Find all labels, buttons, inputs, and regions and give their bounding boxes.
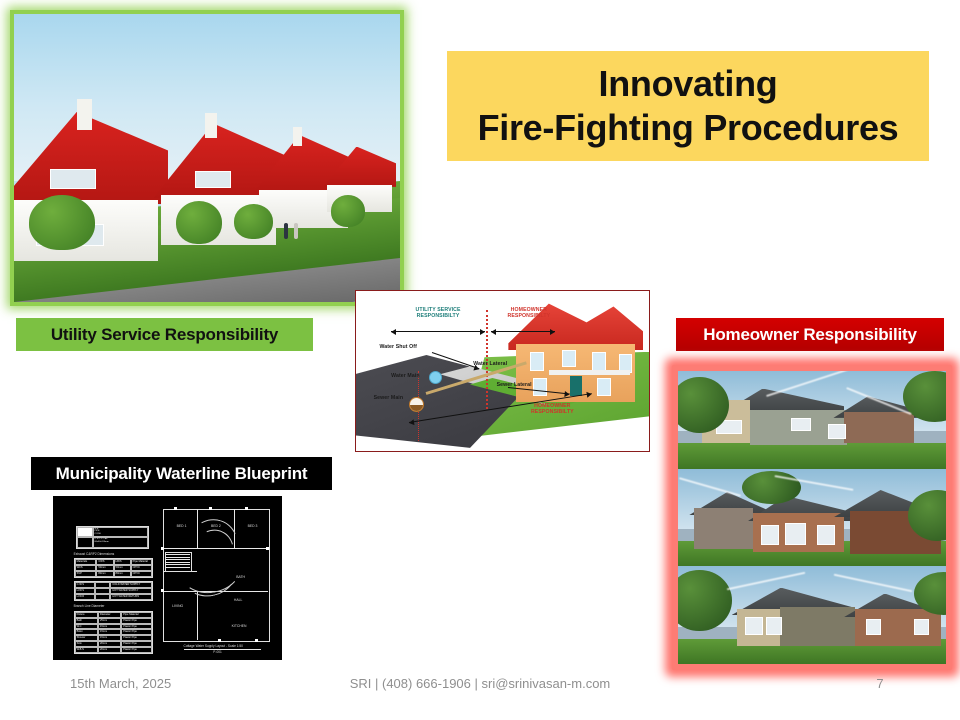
- title-line-1: Innovating: [599, 62, 778, 106]
- window: [530, 352, 544, 371]
- responsibility-diagram: UTILITY SERVICE RESPONSIBILTY HOMEOWNER …: [355, 290, 650, 452]
- blueprint-table-exhaust: Materials CWS HWS Pipe Material WCS 50mm…: [74, 558, 154, 578]
- street-photo: [13, 13, 401, 303]
- td: CPVC: [131, 571, 153, 577]
- room-label: BATH: [236, 575, 245, 579]
- fixture-node: [218, 639, 221, 642]
- front-door: [570, 376, 582, 396]
- title-line-2: Fire-Fighting Procedures: [478, 106, 899, 150]
- window: [785, 523, 806, 545]
- diagram-label-homeowner-zone: HOMEOWNER RESPONSIBILTY: [491, 307, 567, 320]
- diagram-label-sewer-lateral: Sewer Lateral: [497, 382, 532, 388]
- window: [766, 617, 781, 635]
- chimney: [293, 127, 302, 147]
- chimney: [77, 99, 92, 130]
- house-1: [13, 112, 168, 204]
- diagram-label-homeowner-lower: HOMEOWNER RESPONSIBILTY: [514, 403, 590, 416]
- tree: [29, 195, 95, 250]
- blueprint-sheet-number: P-001: [213, 650, 222, 654]
- slide-canvas: Innovating Fire-Fighting Procedures: [0, 0, 960, 720]
- room-label: HALL: [234, 598, 242, 602]
- window: [914, 619, 929, 635]
- key-line: [95, 594, 111, 600]
- pedestrian: [284, 223, 288, 239]
- td: HOT WATER RETURN: [110, 594, 152, 600]
- window: [817, 525, 835, 545]
- diagram-label-water-shut-off: Water Shut Off: [379, 344, 417, 350]
- house-collage: [672, 365, 952, 670]
- td: W.B.S: [75, 647, 98, 653]
- legend-label-cell: D.S.C.P. CAP 60x60x115mm: [93, 537, 148, 548]
- window: [597, 378, 611, 396]
- td: 80mm: [96, 571, 113, 577]
- window: [562, 350, 576, 367]
- room-label: BED 3: [248, 524, 258, 528]
- legend-symbol-cell: [77, 537, 93, 548]
- window: [791, 418, 812, 431]
- room-label: LIVING: [172, 604, 183, 608]
- house-body: [844, 412, 914, 443]
- collage-cell-1: [678, 371, 946, 469]
- window: [761, 525, 779, 545]
- house-body: [780, 607, 855, 646]
- tree: [234, 204, 273, 239]
- fixture-node: [209, 507, 212, 510]
- fixture-node: [255, 639, 258, 642]
- lawn: [678, 443, 946, 468]
- house-body: [694, 508, 753, 549]
- legend-label-cell: N.B. PIPE CODE: [93, 527, 148, 538]
- fixture-node: [266, 547, 269, 550]
- window: [195, 171, 231, 188]
- chimney: [205, 113, 217, 138]
- td: Plastic Pipe: [121, 647, 152, 653]
- window: [745, 617, 763, 635]
- collage-cell-2: [678, 469, 946, 567]
- fixture-node: [174, 507, 177, 510]
- plan-wall: [197, 591, 198, 640]
- caption-municipality-blueprint: Municipality Waterline Blueprint: [31, 457, 332, 490]
- homeowner-zone-arrow: [491, 331, 555, 332]
- diagram-label-water-main: Water Main: [391, 373, 419, 379]
- fixture-node: [161, 589, 164, 592]
- diagram-label-sewer-main: Sewer Main: [374, 395, 404, 401]
- caption-underline: [184, 649, 262, 650]
- blueprint-cad-image: N.B. PIPE CODE D.S.C.P. CAP 60x60x115mm …: [53, 496, 282, 660]
- td: 20mm: [98, 647, 121, 653]
- blueprint-key-table: C.W.S COLD WATER SUPPLY H.W.S HOT WATER …: [74, 581, 154, 601]
- blueprint-legend-symbols: N.B. PIPE CODE D.S.C.P. CAP 60x60x115mm: [76, 526, 149, 549]
- td: 80mm: [114, 571, 131, 577]
- legend-symbol-cell: [77, 527, 93, 538]
- blueprint-table2-title: Branch Line Diameter: [74, 604, 105, 608]
- tree: [742, 471, 801, 504]
- caption-homeowner-responsibility: Homeowner Responsibility: [676, 318, 944, 351]
- tree: [331, 195, 366, 227]
- service-line-dotted: [418, 371, 489, 441]
- td: H.W.R: [75, 594, 95, 600]
- roof: [323, 147, 396, 187]
- slide-footer: 15th March, 2025 SRI | (408) 666-1906 | …: [0, 676, 960, 702]
- room-label: BED 1: [177, 524, 187, 528]
- window: [533, 378, 547, 396]
- utility-zone-arrow: [391, 331, 485, 332]
- window: [592, 352, 606, 371]
- blueprint-drawing-caption: Cottage Water Supply Layout - Scale 1:50: [184, 644, 243, 648]
- fixture-node: [161, 547, 164, 550]
- diagram-label-utility-zone: UTILITY SERVICE RESPONSIBILTY: [391, 307, 485, 320]
- footer-page-number: 7: [870, 676, 890, 691]
- window: [866, 619, 881, 635]
- footer-contact: SRI | (408) 666-1906 | sri@srinivasan-m.…: [0, 676, 960, 691]
- fixture-node: [245, 507, 248, 510]
- pedestrian: [294, 223, 298, 239]
- room-label: KITCHEN: [232, 624, 247, 628]
- blueprint-table-branch: Fixture Diameter Pipe Material Bath 25mm…: [74, 611, 154, 654]
- slide-title-box: Innovating Fire-Fighting Procedures: [447, 51, 929, 161]
- window: [50, 169, 96, 189]
- blueprint-table1-title: Exhaust C&RP2 Dimensions: [74, 552, 115, 556]
- porch-roof: [549, 370, 630, 375]
- caption-utility-service: Utility Service Responsibility: [16, 318, 313, 351]
- td: SVP: [75, 571, 97, 577]
- room-label: BED 2: [211, 524, 221, 528]
- sewer-main-node: [409, 397, 424, 412]
- tree: [176, 201, 222, 244]
- window: [828, 424, 846, 440]
- house-4: [323, 147, 396, 187]
- diagram-label-water-lateral: Water Lateral: [473, 361, 507, 367]
- collage-cell-3: [678, 566, 946, 664]
